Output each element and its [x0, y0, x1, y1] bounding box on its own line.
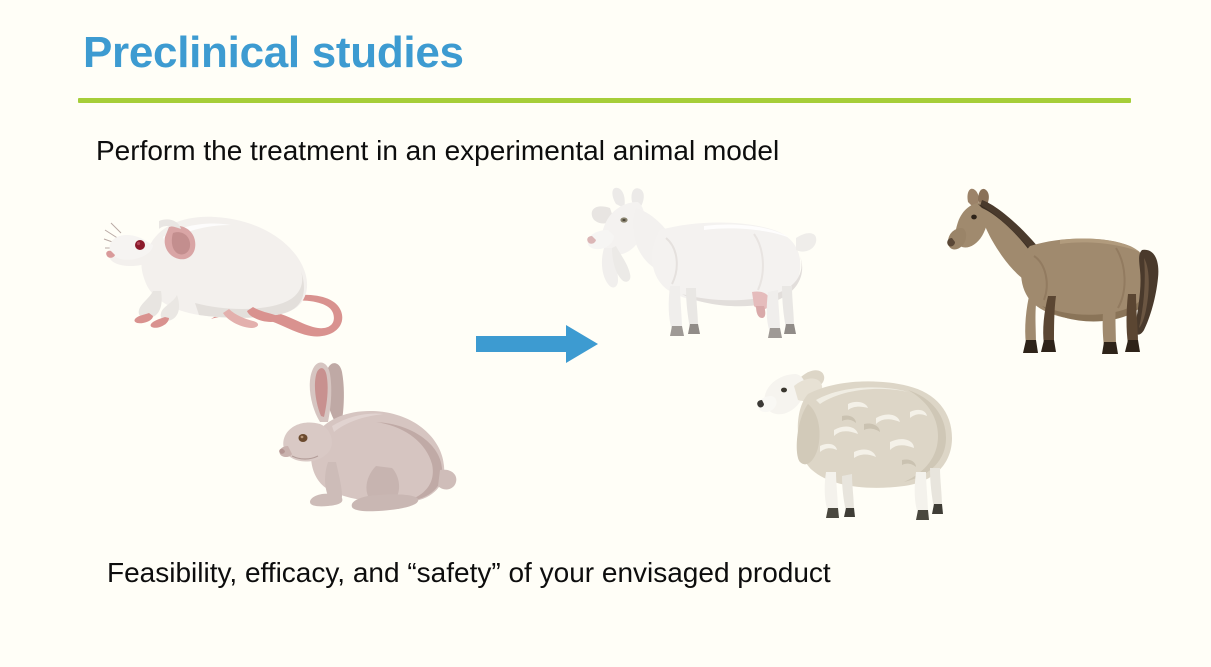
slide-canvas: Preclinical studies Perform the treatmen… — [0, 0, 1211, 667]
subtitle-text: Perform the treatment in an experimental… — [96, 135, 779, 167]
mouse-illustration — [103, 203, 361, 353]
right-arrow-icon — [474, 322, 600, 366]
sheep-illustration — [756, 360, 961, 530]
title-divider — [78, 98, 1131, 103]
footer-text: Feasibility, efficacy, and “safety” of y… — [107, 557, 831, 589]
horse-illustration — [938, 184, 1160, 359]
rabbit-illustration — [272, 362, 462, 517]
goat-illustration — [586, 186, 818, 338]
page-title: Preclinical studies — [83, 29, 464, 77]
